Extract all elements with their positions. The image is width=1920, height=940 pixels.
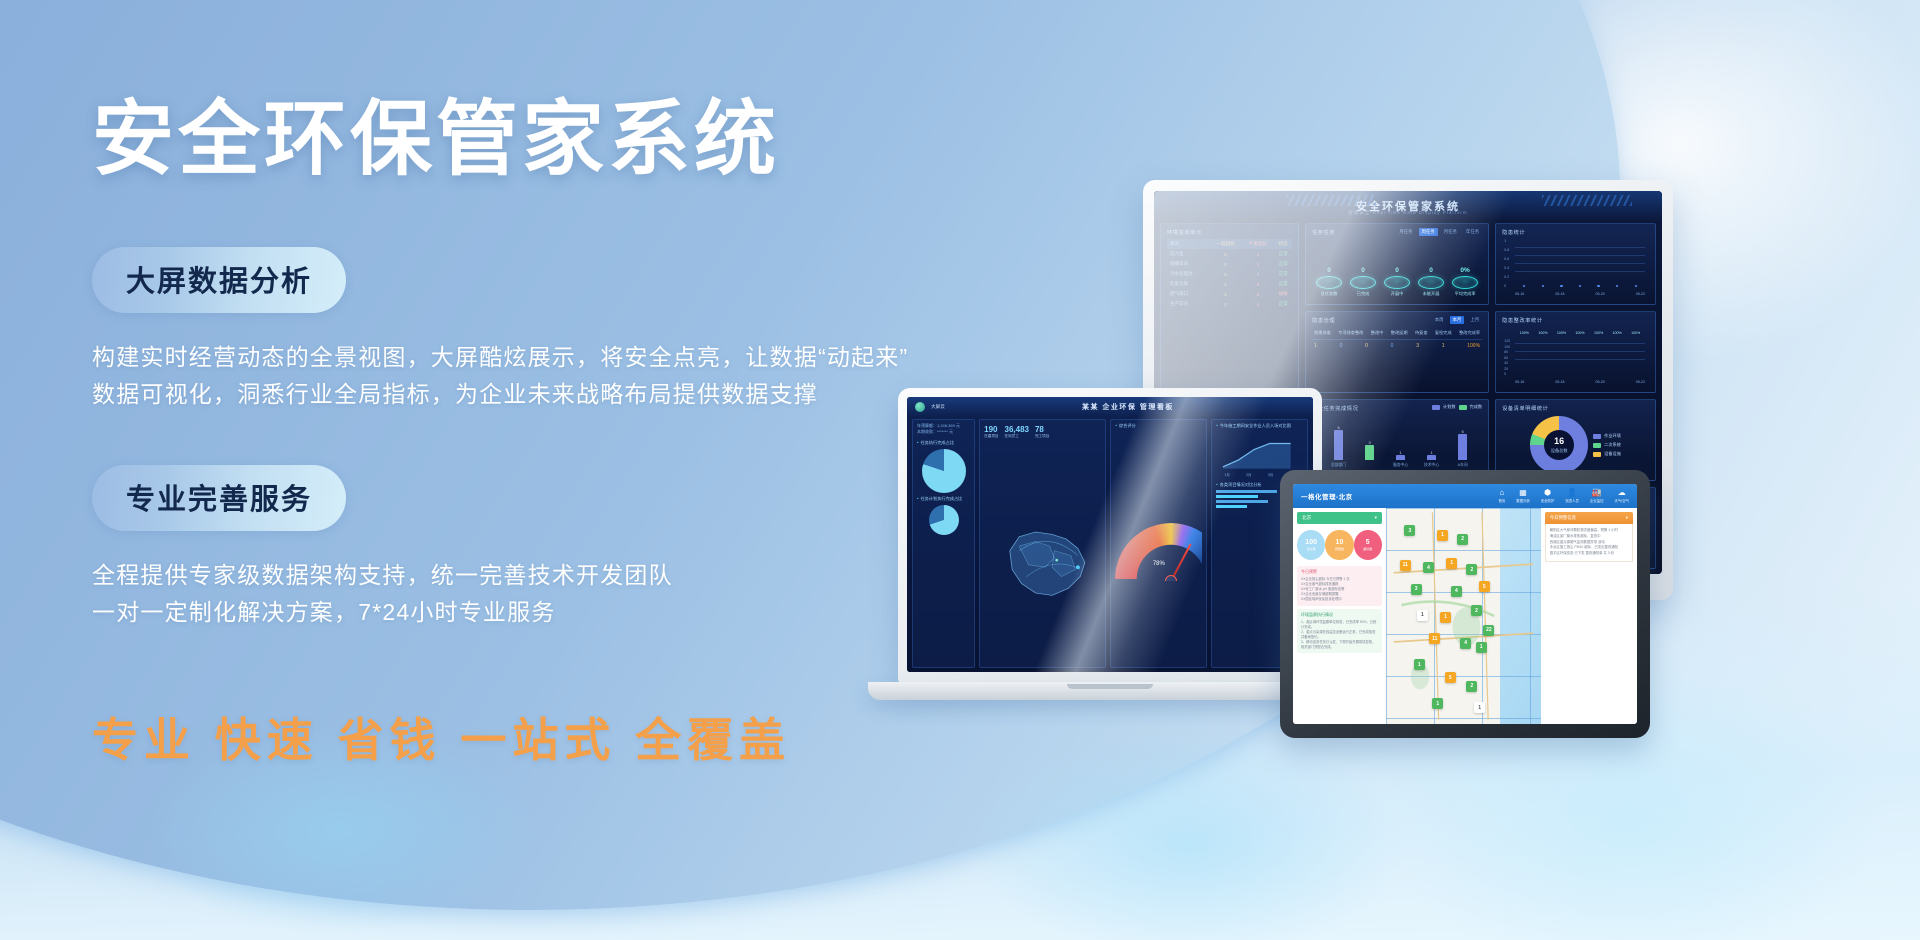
bar-plan [1427,455,1436,460]
stat-col: 待复查 [1415,330,1428,336]
map-pin[interactable]: 11 [1429,633,1440,644]
stat-label: 已完成 [1350,291,1376,297]
table-header-row: 单元 一般超标 严重超标 状态 [1167,239,1292,249]
panel-rectify-stats: 隐患治理 本周 本月 上月 隐患排查 专项排查整改 [1305,311,1489,393]
note-line: XX园区噪声扰民投诉处理中 [1301,597,1378,602]
map-pin[interactable]: 2 [1466,681,1477,692]
map-pin[interactable]: 11 [1400,560,1411,571]
info-note: 环境监察执行情况 1、各区域环境监察单位排查，已完成率 90%，已统计完成。 2… [1297,609,1382,654]
stat-label: 总任务数 [1316,291,1342,297]
nav-item-shield[interactable]: ⬢ 安全防护 [1541,489,1555,503]
map-pin[interactable]: 3 [1404,525,1415,536]
badge-label: 企业数 [1307,547,1316,551]
paragraph-analysis: 构建实时经营动态的全景视图，大屏酷炫展示，将安全点亮，让数据“动起来” 数据可视… [92,339,1042,414]
bar-value: 1 [1387,450,1413,455]
legend-item: 二次系统 [1593,442,1621,448]
data-point [1560,285,1562,287]
laptop-trackpad-notch [1067,684,1153,689]
nav-item-factory[interactable]: 🏭 企业监控 [1590,489,1604,503]
cell-name: 污水处理池 [1167,269,1209,279]
task-stat: 0 未能开展 [1418,267,1444,297]
legend-label: 设备设施 [1604,451,1621,457]
bar-label: 服务中心 [1387,463,1413,468]
note-line: 3、移动巡查任务已派发，下周开始开展现场复核，相关部门须配合完成。 [1301,640,1378,650]
gauge-value: 78% [1115,561,1202,567]
cell-severe: 4 [1242,299,1274,309]
tablet-app-title: 一格化管理-北京 [1301,491,1353,501]
gridline [1515,263,1645,264]
donut-label: 设备总数 [1551,448,1568,454]
dashboard-header: 安全环保管家系统 智能安全 Real-time Data Display Pla… [1154,191,1662,221]
stat-value: 0 [1340,343,1343,349]
legend-item: 计划数 [1432,404,1456,410]
chevron-down-icon: ▾ [1375,515,1377,521]
note-line: 2、重点污染源在线监控设备运行正常，已完成核查并备案登记。 [1301,630,1378,640]
data-point [1616,285,1618,287]
table-row: 压力釜 0 1 正常 [1167,249,1292,259]
map-pin[interactable]: 5 [1479,581,1490,592]
stat-label: 平均完成率 [1452,291,1478,297]
tab-month[interactable]: 月任务 [1396,228,1415,236]
tab-this-month[interactable]: 本月 [1450,316,1465,324]
cell-normal: 2 [1209,299,1241,309]
warning-note: 今日预警 XX企业扬尘超标 今日已预警 1 次 XX企业废气超标排放通报 XX化… [1297,566,1382,606]
person-icon: 👤 [1565,489,1579,497]
alert-panel-body: 朝阳区大气悬浮颗粒物浓度偏高，预警 1 小时 海淀区某厂废水排放超标，复查中 西… [1545,524,1633,562]
gauge-wrapper: 78% [1115,431,1202,668]
mini-bar [1216,505,1246,508]
gridline [1515,271,1645,272]
hologram-ring-icon [1350,276,1376,289]
map-pin[interactable]: 4 [1451,586,1462,597]
x-axis: 05-16 05-18 05-20 05-22 [1515,380,1645,384]
map-pin[interactable]: 4 [1460,638,1471,649]
panel-title: 今年施工期间安全作业人员入场对比图 [1216,423,1303,429]
task-bar-legend: 计划数 完成数 [1432,404,1482,410]
grid-map[interactable]: 3 1 2 11 4 1 2 3 4 5 1 1 [1386,508,1541,724]
stat-col: 专项排查整改 [1338,330,1363,336]
data-point [1635,285,1637,287]
map-pin[interactable]: 5 [1445,672,1456,683]
cell-status: 故障 [1274,289,1292,299]
bar-value: 5 [1449,429,1475,434]
promo-banner: 安全环保管家系统 大屏数据分析 构建实时经营动态的全景视图，大屏酷炫展示，将安全… [0,0,1920,940]
panel-title: 隐患统计 [1502,229,1649,236]
tab-year[interactable]: 年任务 [1463,228,1482,236]
legend-label: 二次系统 [1604,442,1621,448]
dashboard-subtitle: 智能安全 Real-time Data Display Platform [1348,210,1467,216]
chart-icon: ▦ [1516,489,1530,497]
bar-group: 3 [1356,440,1382,460]
tablet-left-panel: 北京 ▾ 100 企业数 10 [1293,508,1386,724]
nav-label: 企业监控 [1590,498,1604,503]
map-pin[interactable]: 4 [1423,562,1434,573]
tablet-right-panel: 今日预警信息 ▾ 朝阳区大气悬浮颗粒物浓度偏高，预警 1 小时 海淀区某厂废水排… [1541,508,1637,724]
bar-group: 1 服务中心 [1387,450,1413,460]
hologram-ring-icon [1316,276,1342,289]
cell-normal: 2 [1209,289,1241,299]
th-normal: 一般超标 [1209,239,1241,249]
map-pin[interactable]: 1 [1476,642,1487,653]
tablet-mockup: 一格化管理-北京 ⌂ 首页 ▦ 数据分析 [1280,470,1650,738]
tablet-body: 一格化管理-北京 ⌂ 首页 ▦ 数据分析 [1280,470,1650,738]
region-select-value: 北京 [1302,515,1311,521]
line-chart-rate: 100% 100% 100% 100% 100% 100% 100% [1502,327,1649,385]
alert-line: 昌平区环保巡查 已下发 整改通知单 共 3 份 [1550,551,1628,557]
cell-status: 正常 [1274,249,1292,259]
cell-name: 废气排口 [1167,289,1209,299]
tab-week[interactable]: 周任务 [1419,228,1438,236]
mini-bar [1216,490,1277,493]
data-point [1597,285,1599,287]
cell-name: 储槽车间 [1167,259,1209,269]
legend-swatch [1459,405,1467,410]
bar-label: 技术中心 [1418,463,1444,468]
status-badge: 5 超标数 [1354,530,1382,560]
tablet-screen: 一格化管理-北京 ⌂ 首页 ▦ 数据分析 [1293,484,1637,724]
panel-title: 隐患整改率统计 [1502,317,1649,324]
note-title: 今日预警 [1301,569,1378,575]
hologram-ring-icon [1452,276,1478,289]
tablet-app: 一格化管理-北京 ⌂ 首页 ▦ 数据分析 [1293,484,1637,724]
paragraph-analysis-line-1: 构建实时经营动态的全景视图，大屏酷炫展示，将安全点亮，让数据“动起来” [92,339,1042,376]
unit-table: 单元 一般超标 严重超标 状态 压力釜 0 1 [1167,239,1292,309]
mini-bar [1216,500,1268,503]
stat-value: 0 [1316,267,1342,274]
factory-icon: 🏭 [1590,489,1604,497]
panel-title: 环境监测单元 [1167,229,1292,236]
nav-item-home[interactable]: ⌂ 首页 [1498,489,1505,503]
region-select[interactable]: 北京 ▾ [1297,512,1382,524]
table-row: 废气排口 2 6 故障 [1167,289,1292,299]
cell-severe: 6 [1242,289,1274,299]
gridline [1515,247,1645,248]
nav-label: 首页 [1498,498,1505,503]
stat-value: 0 [1418,267,1444,274]
paragraph-service: 全程提供专家级数据架构支持，统一完善技术开发团队 一对一定制化解决方案，7*24… [92,557,1042,632]
stat-col: 整改完成率 [1459,330,1480,336]
paragraph-service-line-1: 全程提供专家级数据架构支持，统一完善技术开发团队 [92,557,1042,594]
bar-label: A车间 [1449,463,1475,468]
legend-swatch [1593,434,1601,439]
legend-label: 计划数 [1443,404,1456,410]
table-row: 生产车间 2 4 正常 [1167,299,1292,309]
shield-icon: ⬢ [1541,489,1555,497]
donut-ring: 16 设备总数 [1530,416,1588,474]
cell-status: 正常 [1274,269,1292,279]
cell-normal: 0 [1209,259,1241,269]
rectify-stat-headers: 隐患排查 专项排查整改 整改中 整改延期 待复查 复检完成 整改完成率 [1312,327,1482,339]
legend-swatch [1593,452,1601,457]
stat-col: 隐患排查 [1314,330,1331,336]
map-pin[interactable]: 2 [1457,534,1468,545]
note-title: 环境监察执行情况 [1301,612,1378,618]
map-pin[interactable]: 1 [1446,558,1457,569]
cell-severe: 1 [1242,259,1274,269]
badge-value: 100 [1305,539,1317,546]
stat-col: 整改延期 [1391,330,1408,336]
bar-value: 1 [1418,450,1444,455]
gridline [1515,359,1645,360]
donut-chart-order: 16 设备总数 作业环境 [1502,415,1649,475]
paragraph-service-line-2: 一对一定制化解决方案，7*24小时专业服务 [92,594,1042,631]
note-line: 1、各区域环境监察单位排查，已完成率 90%，已统计完成。 [1301,620,1378,630]
gridline [1515,351,1645,352]
panel-line-rate: 隐患整改率统计 100% 100% 100% 100% 100% [1495,311,1656,393]
data-point [1523,285,1525,287]
panel-unit-table: 环境监测单元 单元 一般超标 严重超标 状态 [1160,223,1299,393]
panel-order-donut: 设备清单明细统计 16 设备总数 [1495,399,1656,481]
table-row: 污水处理池 0 7 正常 [1167,269,1292,279]
bar-group: 1 技术中心 [1418,450,1444,460]
nav-label: 巡查人员 [1565,498,1579,503]
stat-label: 开展中 [1384,291,1410,297]
copy-block: 安全环保管家系统 大屏数据分析 构建实时经营动态的全景视图，大屏酷炫展示，将安全… [92,96,1042,770]
cell-severe: 1 [1242,249,1274,259]
hologram-ring-icon [1418,276,1444,289]
badge-value: 10 [1336,539,1344,546]
gridline [1515,343,1645,344]
badge-label: 超标数 [1363,547,1372,551]
laptop-panel-gauge: 综合评分 78% 在建项目风险分项及单项检查统计 [1110,419,1207,668]
alert-line: 朝阳区大气悬浮颗粒物浓度偏高，预警 1 小时 [1550,528,1628,534]
stat-value: 0 [1384,267,1410,274]
cell-normal: 0 [1209,269,1241,279]
header-hatch-right-icon [1542,195,1632,206]
stat-col: 整改中 [1371,330,1384,336]
stat-value: 0 [1350,267,1376,274]
map-pin[interactable]: 1 [1417,610,1428,621]
cell-normal: 2 [1209,279,1241,289]
cell-name: 压力釜 [1167,249,1209,259]
cell-normal: 0 [1209,249,1241,259]
header-hatch-left-icon [1286,195,1376,206]
tab-month-2[interactable]: 月任务 [1441,228,1460,236]
tablet-nav[interactable]: ⌂ 首页 ▦ 数据分析 ⬢ 安全防护 [1498,489,1629,503]
tab-this-week[interactable]: 本周 [1432,316,1447,324]
panel-line-count: 隐患统计 1 0.8 0.6 0.4 0.2 0 [1495,223,1656,305]
data-points [1515,285,1645,287]
legend-item: 完成数 [1459,404,1483,410]
th-severe: 严重超标 [1242,239,1274,249]
line-chart-trend [1216,433,1303,473]
nav-item-cloud[interactable]: ☁ 天气/空气 [1614,489,1629,503]
map-pin[interactable]: 1 [1432,698,1443,709]
cell-status: 正常 [1274,299,1292,309]
cell-severe: 7 [1242,269,1274,279]
alert-panel-title: 今日预警信息 [1550,515,1576,521]
map-pin[interactable]: 1 [1414,659,1425,670]
legend-item: 作业环境 [1593,433,1621,439]
panel-title: 综合评分 [1115,423,1202,429]
data-point [1579,285,1581,287]
task-stat: 0 总任务数 [1316,267,1342,297]
page-title: 安全环保管家系统 [92,96,1042,185]
th-unit: 单元 [1167,239,1209,249]
tablet-app-header: 一格化管理-北京 ⌂ 首页 ▦ 数据分析 [1293,484,1637,508]
gauge-chart: 78% [1115,523,1202,581]
bar-plan [1458,434,1467,460]
map-pin[interactable]: 2 [1471,605,1482,616]
tab-last-month[interactable]: 上月 [1467,316,1482,324]
line-chart-count: 1 0.8 0.6 0.4 0.2 0 [1502,239,1649,297]
nav-label: 安全防护 [1541,498,1555,503]
legend-item: 设备设施 [1593,451,1621,457]
table-row: 危废仓库 2 6 正常 [1167,279,1292,289]
hologram-ring-icon [1384,276,1410,289]
tagline: 专业 快速 省钱 一站式 全覆盖 [92,704,1042,770]
stat-value: 1 [1314,343,1317,349]
panel-task-icons: 任务任务 月任务 周任务 月任务 年任务 [1305,223,1489,305]
stat-value: 0% [1452,267,1478,274]
alert-panel-header: 今日预警信息 ▾ [1545,512,1633,524]
gauge-arc [1115,523,1202,581]
panel-title: 设备清单明细统计 [1502,405,1649,412]
task-stat: 0 已完成 [1350,267,1376,297]
stat-label: 未能开展 [1418,291,1444,297]
task-stat: 0 开展中 [1384,267,1410,297]
data-point [1542,285,1544,287]
cloud-icon: ☁ [1614,489,1629,497]
map-pin[interactable]: 1 [1437,530,1448,541]
map-pin[interactable]: 3 [1411,584,1422,595]
task-icon-row: 0 总任务数 0 已完成 [1312,239,1482,297]
paragraph-analysis-line-2: 数据可视化，洞悉行业全局指标，为企业未来战略布局提供数据支撑 [92,376,1042,413]
nav-label: 数据分析 [1516,498,1530,503]
status-badge: 100 企业数 [1297,530,1325,560]
th-status: 状态 [1274,239,1292,249]
task-stat: 0% 平均完成率 [1452,267,1478,297]
trend-svg [1216,433,1303,473]
map-pin[interactable]: 1 [1474,702,1485,713]
stat-value: 100% [1467,343,1480,349]
status-badge: 10 预警数 [1325,530,1353,560]
badge-label: 预警数 [1335,547,1344,551]
rectify-tab-group[interactable]: 本周 本月 上月 [1432,316,1482,324]
cell-severe: 6 [1242,279,1274,289]
cell-status: 正常 [1274,279,1292,289]
cell-name: 生产车间 [1167,299,1209,309]
donut-center: 16 设备总数 [1544,430,1574,460]
stat-badges: 100 企业数 10 预警数 5 超标数 [1297,527,1382,563]
mini-bar [1216,495,1258,498]
bar-done [1365,445,1374,460]
badge-big-screen-analysis: 大屏数据分析 [92,247,346,313]
map-pin[interactable]: 22 [1483,625,1494,636]
stat-value: 1 [1442,343,1445,349]
tablet-app-body: 北京 ▾ 100 企业数 10 [1293,508,1637,724]
map-pin[interactable]: 1 [1440,612,1451,623]
rectify-stat-values: 1 0 0 0 3 1 100% [1312,340,1482,352]
stat-col: 复检完成 [1435,330,1452,336]
stat-value: 0 [1391,343,1394,349]
table-row: 储槽车间 0 1 正常 [1167,259,1292,269]
stat-value: 3 [1416,343,1419,349]
home-icon: ⌂ [1498,489,1505,497]
donut-value: 16 [1554,437,1564,446]
y-axis: 120 100 80 60 40 20 0 [1504,339,1510,376]
nav-item-analysis[interactable]: ▦ 数据分析 [1516,489,1530,503]
legend-label: 完成数 [1470,404,1483,410]
point-labels: 100% 100% 100% 100% 100% 100% 100% [1515,331,1645,335]
badge-value: 5 [1366,539,1370,546]
badge-professional-service: 专业完善服务 [92,465,346,531]
task-tab-group[interactable]: 月任务 周任务 月任务 年任务 [1396,228,1482,236]
legend-label: 作业环境 [1604,433,1621,439]
bar-plan [1396,455,1405,460]
donut-legend: 作业环境 二次系统 [1593,433,1621,457]
bar-group: 5 A车间 [1449,429,1475,460]
nav-item-person[interactable]: 👤 巡查人员 [1565,489,1579,503]
legend-swatch [1432,405,1440,410]
y-axis: 1 0.8 0.6 0.4 0.2 0 [1504,239,1509,288]
chevron-down-icon[interactable]: ▾ [1626,515,1628,521]
legend-swatch [1593,443,1601,448]
cell-status: 正常 [1274,259,1292,269]
nav-label: 天气/空气 [1614,498,1629,503]
cell-name: 危废仓库 [1167,279,1209,289]
gridline [1515,255,1645,256]
stat-value: 0 [1365,343,1368,349]
bar-value: 3 [1356,440,1382,445]
x-axis: 05-16 05-18 05-20 05-22 [1515,292,1645,296]
map-pin[interactable]: 2 [1466,564,1477,575]
